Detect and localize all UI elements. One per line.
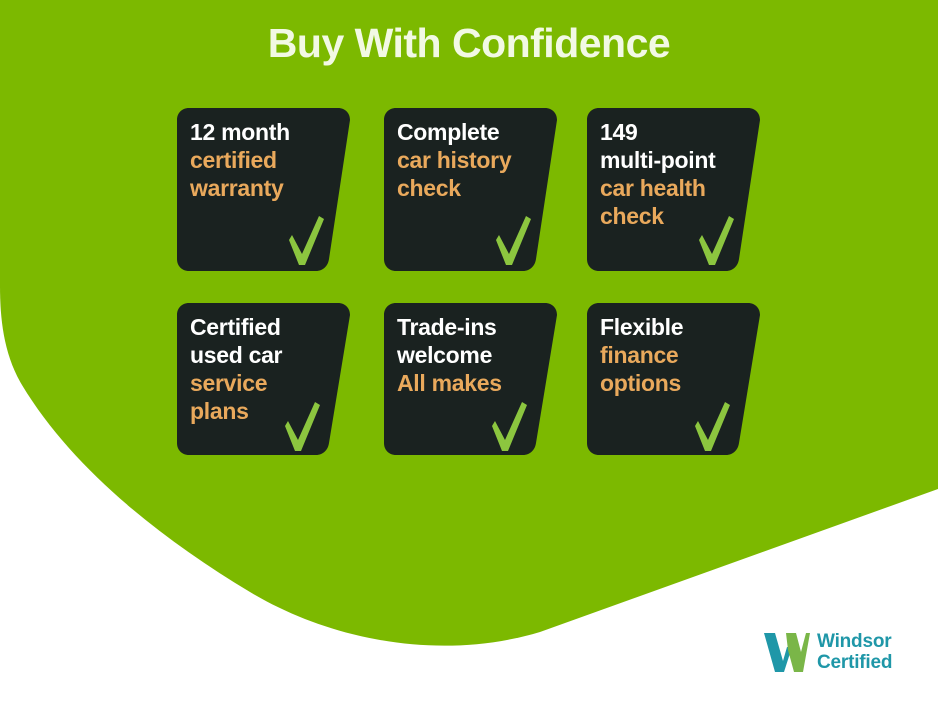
logo-line-2: Certified <box>817 652 892 673</box>
benefit-card-149-multi-point-car-health-check[interactable]: 149 multi-point car health check <box>587 108 760 271</box>
benefit-accent-line: certified <box>190 146 332 174</box>
check-icon <box>489 401 529 453</box>
benefit-card-row: 12 month certified warranty Com <box>177 108 777 303</box>
check-icon <box>286 215 326 267</box>
benefit-card-text: Trade-ins welcome All makes <box>397 313 539 397</box>
benefit-card-text: Flexible finance options <box>600 313 742 397</box>
benefit-accent-line: All makes <box>397 369 539 397</box>
benefit-primary-line: used car <box>190 341 332 369</box>
benefit-card-text: 149 multi-point car health check <box>600 118 742 230</box>
benefit-accent-line: warranty <box>190 174 332 202</box>
benefit-accent-line: finance <box>600 341 742 369</box>
check-icon <box>696 215 736 267</box>
benefit-primary-line: 12 month <box>190 118 332 146</box>
page-title: Buy With Confidence <box>0 18 938 68</box>
benefit-accent-line: service <box>190 369 332 397</box>
benefit-card-text: 12 month certified warranty <box>190 118 332 202</box>
benefit-card-trade-ins-welcome-all-makes[interactable]: Trade-ins welcome All makes <box>384 303 557 455</box>
benefit-accent-line: check <box>397 174 539 202</box>
benefit-card-row: Certified used car service plans <box>177 303 777 478</box>
check-icon <box>692 401 732 453</box>
benefit-card-text: Complete car history check <box>397 118 539 202</box>
benefit-primary-line: 149 <box>600 118 742 146</box>
benefit-primary-line: welcome <box>397 341 539 369</box>
benefit-card-twelve-month-certified-warranty[interactable]: 12 month certified warranty <box>177 108 350 271</box>
benefit-primary-line: Flexible <box>600 313 742 341</box>
logo-wordmark: Windsor Certified <box>817 631 892 673</box>
benefit-accent-line: options <box>600 369 742 397</box>
benefit-card-flexible-finance-options[interactable]: Flexible finance options <box>587 303 760 455</box>
windsor-w-icon <box>762 630 810 674</box>
benefit-primary-line: multi-point <box>600 146 742 174</box>
benefit-primary-line: Certified <box>190 313 332 341</box>
benefit-card-complete-car-history-check[interactable]: Complete car history check <box>384 108 557 271</box>
benefit-card-grid: 12 month certified warranty Com <box>177 108 777 478</box>
benefit-accent-line: car history <box>397 146 539 174</box>
brand-logo[interactable]: Windsor Certified <box>762 630 892 674</box>
benefit-primary-line: Trade-ins <box>397 313 539 341</box>
benefit-primary-line: Complete <box>397 118 539 146</box>
check-icon <box>493 215 533 267</box>
benefit-accent-line: car health <box>600 174 742 202</box>
benefit-card-certified-used-car-service-plans[interactable]: Certified used car service plans <box>177 303 350 455</box>
promo-banner: Buy With Confidence 12 month certified w… <box>0 0 938 704</box>
check-icon <box>282 401 322 453</box>
logo-line-1: Windsor <box>817 631 892 652</box>
